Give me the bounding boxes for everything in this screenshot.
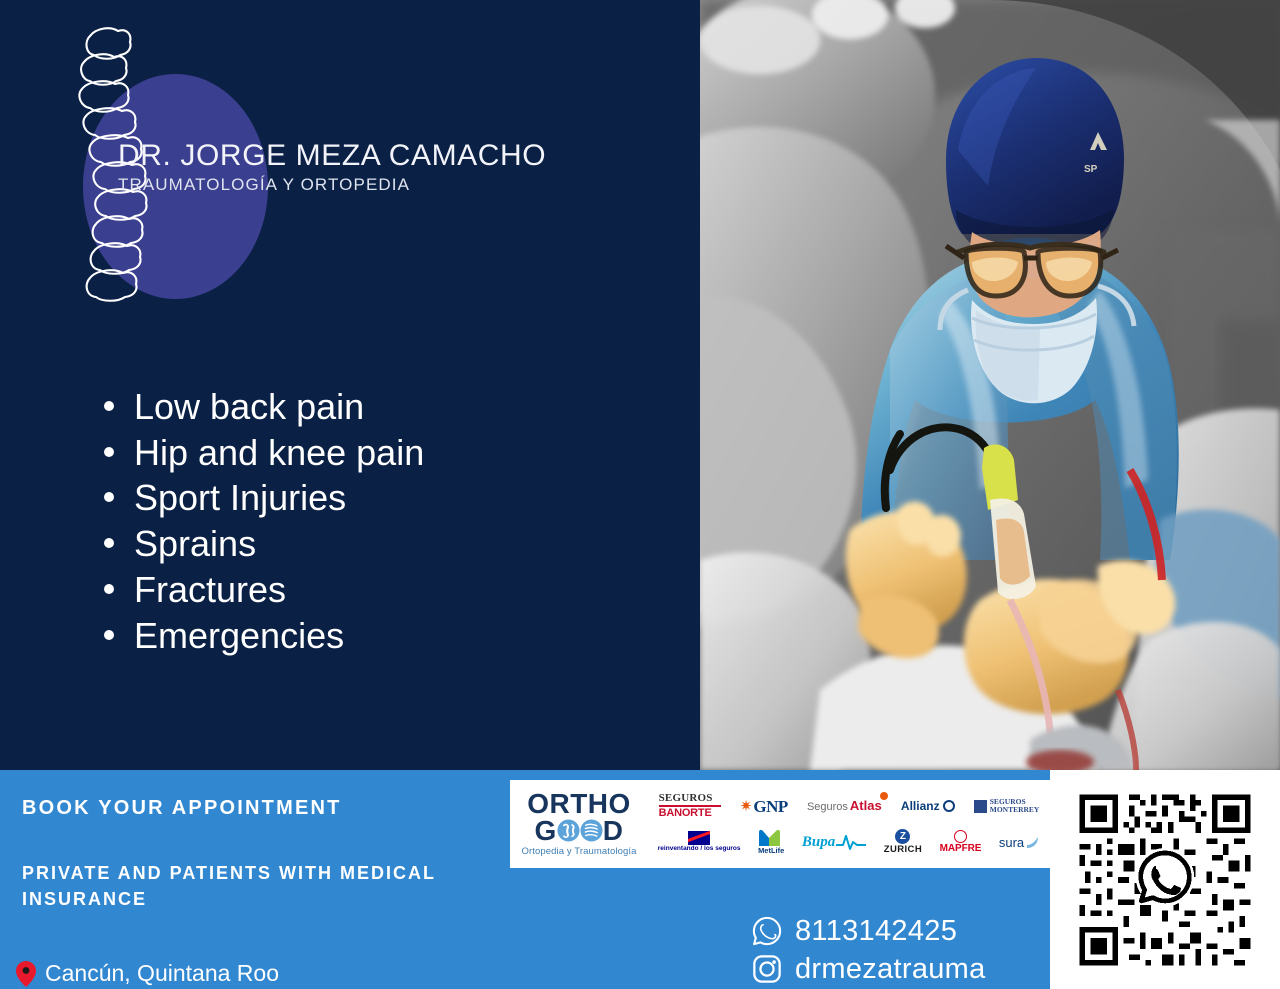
bullet-icon — [104, 492, 114, 502]
insurers-row-2: reinventando / los seguros MetLife Bupa — [652, 827, 1046, 857]
whatsapp-icon[interactable] — [752, 916, 782, 946]
list-item: Sport Injuries — [104, 475, 664, 521]
service-label: Sprains — [134, 521, 256, 567]
brand-specialty: TRAUMATOLOGÍA Y ORTOPEDIA — [118, 175, 578, 195]
joint-bone-icon — [557, 819, 580, 842]
partners-panel: ORTHO G D — [510, 780, 1050, 868]
gnp-star-icon: ✷ — [740, 799, 753, 814]
bullet-icon — [104, 630, 114, 640]
surgery-photo: SP — [700, 0, 1280, 770]
map-pin-icon — [16, 961, 36, 987]
insurer-logo-sura: sura — [999, 827, 1040, 857]
insurer-logo-axa: reinventando / los seguros — [658, 827, 741, 857]
svg-text:SP: SP — [1084, 164, 1098, 175]
services-list: Low back pain Hip and knee pain Sport In… — [104, 384, 664, 658]
orthogood-tagline: Ortopedia y Traumatología — [516, 846, 642, 857]
orthogood-d: D — [603, 818, 624, 845]
allianz-mark-icon — [943, 800, 955, 812]
insurer-logo-mapfre: MAPFRE — [940, 827, 982, 857]
monterrey-line2: MONTERREY — [990, 805, 1040, 814]
allianz-text: Allianz — [901, 800, 940, 812]
service-label: Fractures — [134, 567, 286, 613]
insurer-logo-atlas: Seguros Atlas — [807, 791, 882, 821]
insurer-logo-gnp: ✷ GNP — [740, 791, 788, 821]
cta-subtitle: PRIVATE AND PATIENTS WITH MEDICAL INSURA… — [22, 860, 452, 912]
insurer-logo-zurich: Z ZURICH — [884, 827, 922, 857]
zurich-text: ZURICH — [884, 845, 922, 855]
axa-mark-icon — [688, 831, 710, 845]
location-text: Cancún, Quintana Roo — [45, 960, 279, 987]
spine-circle-icon — [580, 819, 603, 842]
list-item: Low back pain — [104, 384, 664, 430]
zurich-mark-icon: Z — [895, 829, 910, 844]
contact-block: 8113142425 drmezatrauma — [752, 912, 986, 988]
insurer-logo-banorte: SEGUROS BANORTE — [659, 791, 721, 821]
service-label: Hip and knee pain — [134, 430, 424, 476]
whatsapp-qr-code[interactable] — [1074, 789, 1256, 971]
brand-text-group: DR. JORGE MEZA CAMACHO TRAUMATOLOGÍA Y O… — [118, 140, 578, 194]
orthogood-line2: G D — [516, 818, 642, 845]
service-label: Sport Injuries — [134, 475, 346, 521]
sura-swoosh-icon — [1026, 835, 1040, 849]
surgery-photo-illustration: SP — [700, 0, 1280, 770]
metlife-mark-icon — [758, 829, 784, 846]
insurer-logo-bupa: Bupa — [802, 827, 866, 857]
list-item: Emergencies — [104, 613, 664, 659]
insurers-group: SEGUROS BANORTE ✷ GNP Seguros Atlas — [642, 787, 1050, 861]
instagram-row[interactable]: drmezatrauma — [752, 950, 986, 988]
insurer-logo-monterrey: SEGUROS MONTERREY — [974, 791, 1040, 821]
list-item: Hip and knee pain — [104, 430, 664, 476]
service-label: Emergencies — [134, 613, 344, 659]
bullet-icon — [104, 401, 114, 411]
poster-root: SP — [0, 0, 1280, 989]
list-item: Fractures — [104, 567, 664, 613]
insurer-logo-allianz: Allianz — [901, 791, 955, 821]
orthogood-line1: ORTHO — [516, 791, 642, 818]
orthogood-g: G — [534, 818, 556, 845]
orthogood-logo: ORTHO G D — [510, 791, 642, 857]
bupa-pulse-icon — [836, 833, 866, 851]
location-row: Cancún, Quintana Roo — [16, 960, 279, 987]
banorte-top: SEGUROS — [659, 793, 713, 804]
qr-panel — [1050, 770, 1280, 989]
banorte-bottom: BANORTE — [659, 808, 712, 819]
insurer-logo-metlife: MetLife — [758, 827, 784, 857]
sura-text: sura — [999, 836, 1024, 849]
service-label: Low back pain — [134, 384, 364, 430]
metlife-caption: MetLife — [758, 847, 784, 855]
atlas-part1: Seguros — [807, 802, 848, 813]
mapfre-mark-icon — [954, 830, 967, 843]
axa-caption: reinventando / los seguros — [658, 846, 741, 853]
mapfre-text: MAPFRE — [940, 844, 982, 854]
cta-title: BOOK YOUR APPOINTMENT — [22, 797, 342, 820]
page-title: DR. JORGE MEZA CAMACHO — [118, 140, 578, 172]
bullet-icon — [104, 538, 114, 548]
bullet-icon — [104, 447, 114, 457]
atlas-dot-icon — [880, 792, 888, 800]
bupa-text: Bupa — [802, 835, 835, 850]
instagram-icon[interactable] — [752, 954, 782, 984]
brand-logo: DR. JORGE MEZA CAMACHO TRAUMATOLOGÍA Y O… — [40, 22, 600, 302]
whatsapp-number[interactable]: 8113142425 — [795, 915, 957, 948]
gnp-text: GNP — [753, 798, 787, 815]
monterrey-mark-icon — [974, 800, 987, 813]
insurers-row-1: SEGUROS BANORTE ✷ GNP Seguros Atlas — [652, 791, 1046, 821]
atlas-part2: Atlas — [850, 799, 882, 812]
list-item: Sprains — [104, 521, 664, 567]
whatsapp-row[interactable]: 8113142425 — [752, 912, 986, 950]
bullet-icon — [104, 584, 114, 594]
instagram-handle[interactable]: drmezatrauma — [795, 953, 986, 986]
